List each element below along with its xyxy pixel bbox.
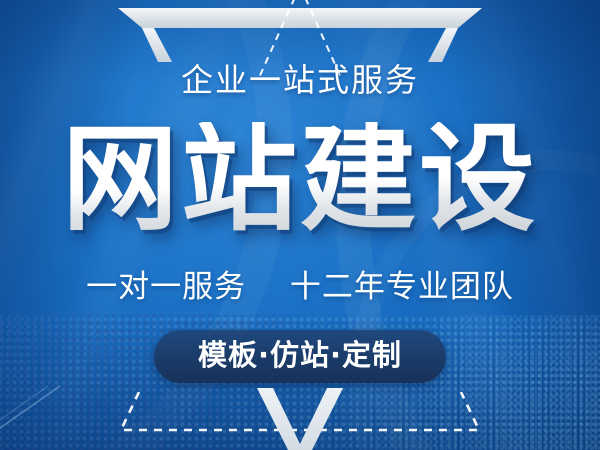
badge-row: 模板·仿站·定制 <box>0 330 600 383</box>
tagline-sub-right: 十二年专业团队 <box>290 269 514 305</box>
tagline-sub: 一对一服务 十二年专业团队 <box>0 272 600 303</box>
service-badge: 模板·仿站·定制 <box>154 330 446 383</box>
page-title: 网站建设 <box>0 122 600 238</box>
tagline-sub-left: 一对一服务 <box>86 269 246 305</box>
bottom-chevron-icon <box>255 388 345 450</box>
promo-poster: 企业一站式服务 网站建设 一对一服务 十二年专业团队 模板·仿站·定制 <box>0 0 600 450</box>
tagline-top: 企业一站式服务 <box>0 64 600 96</box>
